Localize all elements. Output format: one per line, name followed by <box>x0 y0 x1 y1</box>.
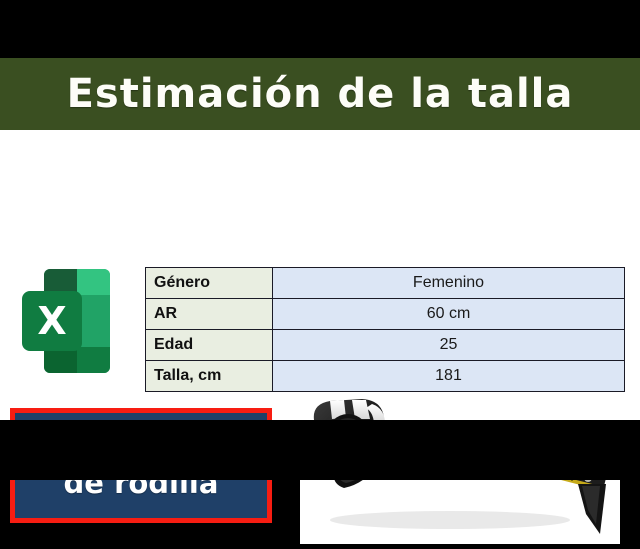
letterbox-bar-bottom <box>0 420 640 480</box>
estimation-data-table: Género Femenino AR 60 cm Edad 25 Talla, … <box>145 267 625 392</box>
row-value: 181 <box>273 361 625 392</box>
row-value: Femenino <box>273 268 625 299</box>
row-label: Género <box>146 268 273 299</box>
page-title: Estimación de la talla <box>67 71 574 117</box>
table-row: Edad 25 <box>146 330 625 361</box>
excel-letter-x: X <box>37 302 66 340</box>
table-row: Talla, cm 181 <box>146 361 625 392</box>
video-frame: Estimación de la talla X Género <box>0 0 640 480</box>
excel-cell-shade <box>77 347 110 373</box>
row-value: 25 <box>273 330 625 361</box>
row-value: 60 cm <box>273 299 625 330</box>
table-row: Género Femenino <box>146 268 625 299</box>
excel-cell-shade <box>77 269 110 295</box>
row-label: Talla, cm <box>146 361 273 392</box>
letterbox-bar-top <box>0 0 640 58</box>
content-area: X Género Femenino AR 60 cm Edad 25 Ta <box>0 130 640 420</box>
row-label: AR <box>146 299 273 330</box>
title-band: Estimación de la talla <box>0 58 640 130</box>
excel-letter-tile: X <box>22 291 82 351</box>
table-row: AR 60 cm <box>146 299 625 330</box>
microsoft-excel-icon: X <box>22 269 110 373</box>
row-label: Edad <box>146 330 273 361</box>
